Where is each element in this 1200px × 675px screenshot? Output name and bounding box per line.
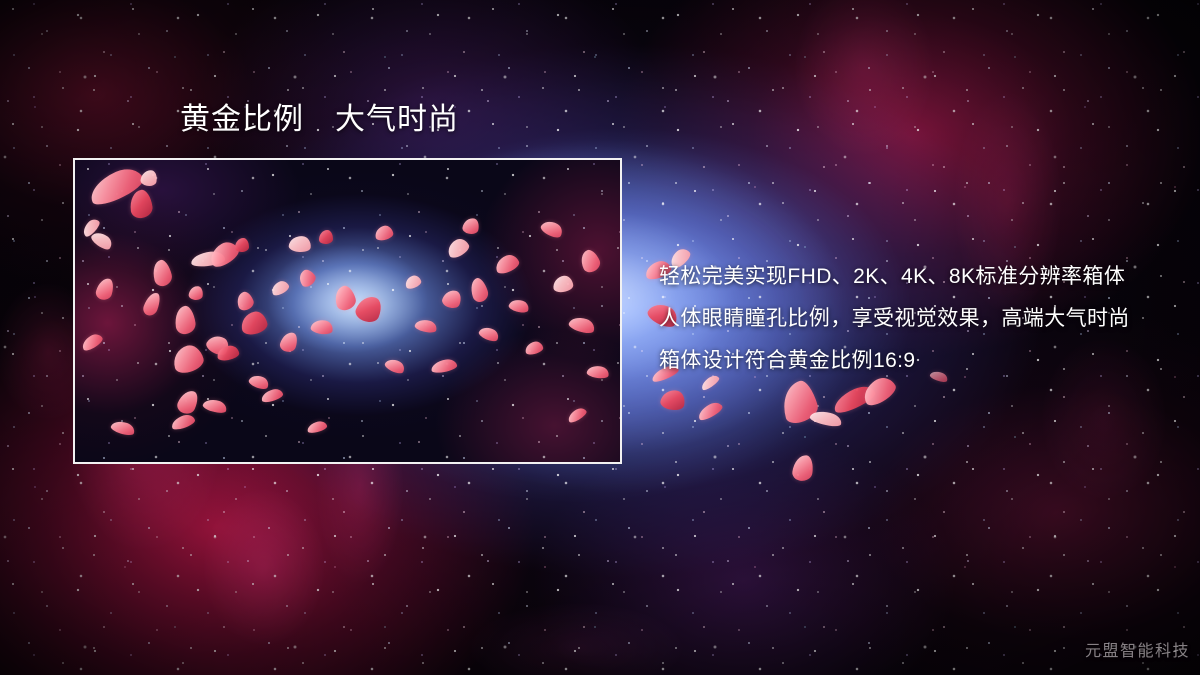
framed-product-image bbox=[73, 158, 622, 464]
company-watermark: 元盟智能科技 bbox=[1085, 637, 1190, 661]
petal bbox=[791, 454, 814, 483]
petal bbox=[696, 400, 725, 423]
body-line-3: 箱体设计符合黄金比例16:9 bbox=[659, 340, 1130, 382]
slide-title: 黄金比例 大气时尚 bbox=[180, 103, 459, 136]
petal bbox=[809, 408, 843, 428]
petal bbox=[777, 378, 821, 426]
presentation-slide: 黄金比例 大气时尚 bbox=[0, 0, 1200, 675]
slide-body-text: 轻松完美实现FHD、2K、4K、8K标准分辨率箱体 人体眼睛瞳孔比例，享受视觉效… bbox=[659, 256, 1130, 382]
body-line-1: 轻松完美实现FHD、2K、4K、8K标准分辨率箱体 bbox=[659, 256, 1130, 298]
inner-nebula-background bbox=[75, 160, 620, 462]
petal bbox=[659, 388, 687, 413]
body-line-2: 人体眼睛瞳孔比例，享受视觉效果，高端大气时尚 bbox=[659, 298, 1130, 340]
petal bbox=[830, 382, 878, 416]
